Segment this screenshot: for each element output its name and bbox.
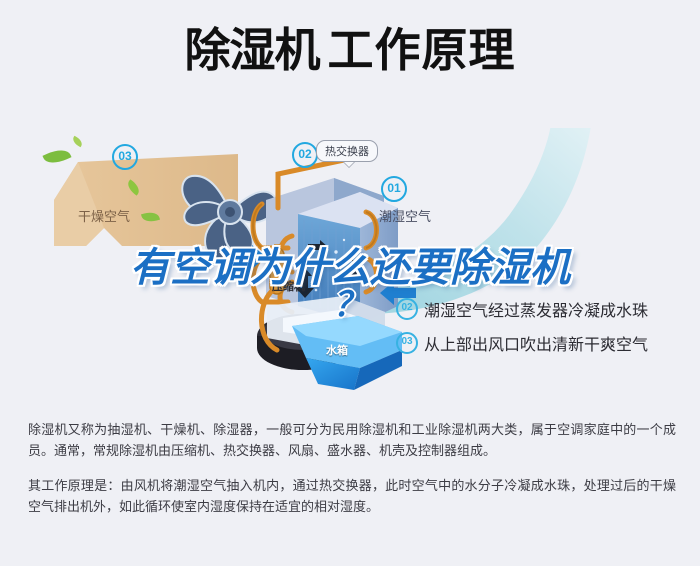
label-humid-air: 潮湿空气 [379,206,431,225]
infographic-page: 除湿机工作原理 [0,0,700,566]
body-paragraph-2: 其工作原理是：由风机将潮湿空气抽入机内，通过热交换器，此时空气中的水分子冷凝成水… [28,476,676,518]
step-item-02: 02 潮湿空气经过蒸发器冷凝成水珠 [396,292,696,326]
step-text-02: 潮湿空气经过蒸发器冷凝成水珠 [424,297,648,321]
label-dry-air: 干燥空气 [78,206,130,225]
step-item-03: 03 从上部出风口吹出清新干爽空气 [396,326,696,360]
diagram-badge-02: 02 [292,142,318,168]
leaf-icon [71,136,84,148]
diagram-badge-03: 03 [112,144,138,170]
step-badge-02: 02 [396,298,418,320]
body-paragraph-1: 除湿机又称为抽湿机、干燥机、除湿器，一般可分为民用除湿机和工业除湿机两大类，属于… [28,420,676,462]
title-text: 除湿机工作原理 [185,20,516,80]
diagram-badge-01: 01 [381,176,407,202]
article-body: 除湿机又称为抽湿机、干燥机、除湿器，一般可分为民用除湿机和工业除湿机两大类，属于… [28,420,676,518]
title-part-a: 除湿机 [185,23,320,77]
title-part-b: 工作原理 [328,23,516,77]
page-title: 除湿机工作原理 [0,20,700,80]
label-compressor: 压缩机 [272,278,305,294]
label-heat-exchanger: 热交换器 [316,140,378,162]
step-list: 01 风机将潮湿空气抽入机内 02 潮湿空气经过蒸发器冷凝成水珠 03 从上部出… [396,258,696,360]
step-badge-03: 03 [396,332,418,354]
step-text-03: 从上部出风口吹出清新干爽空气 [424,331,648,355]
